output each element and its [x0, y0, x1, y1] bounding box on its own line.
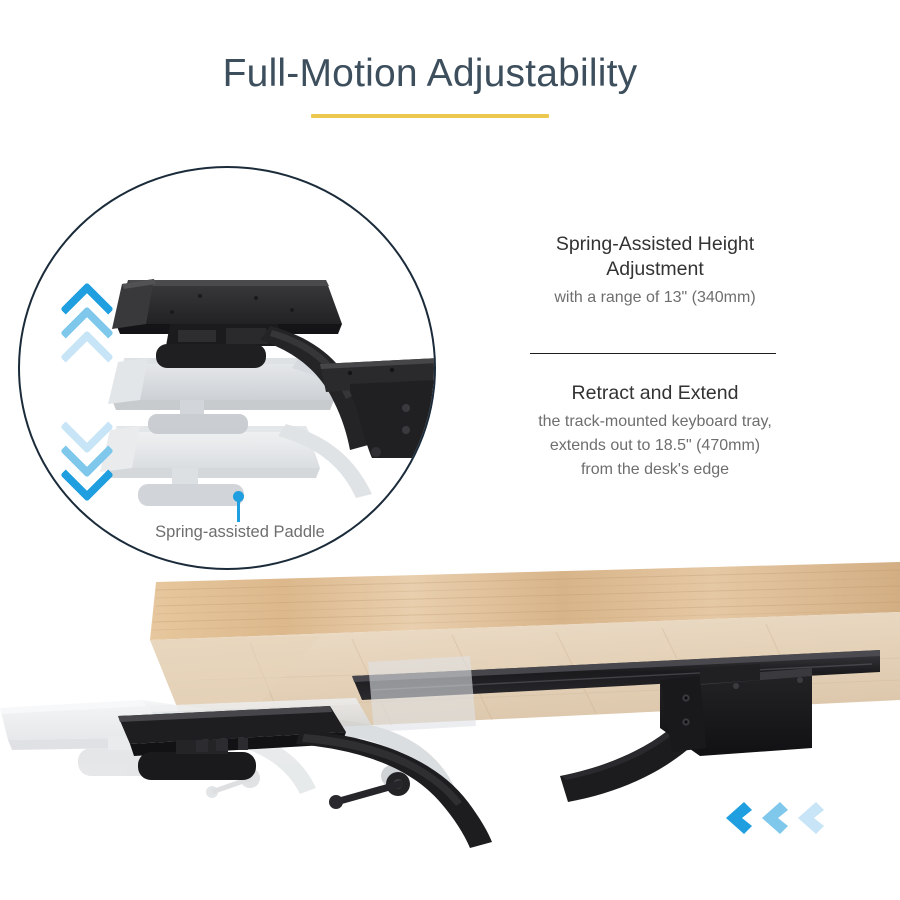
- callout-leader-line: [237, 500, 240, 522]
- feature-block-spring-assist: Spring-Assisted Height Adjustment with a…: [505, 232, 805, 310]
- feature-subtext: with a range of 13" (340mm): [505, 286, 805, 310]
- desk-scene: [0, 540, 900, 900]
- section-divider: [530, 353, 776, 354]
- chevron-down-group: [58, 404, 118, 490]
- feature-subtext-line3: from the desk's edge: [505, 458, 805, 482]
- chevron-left-group: [726, 802, 824, 834]
- feature-subtext-line1: with a range of 13" (340mm): [505, 286, 805, 310]
- feature-heading: Spring-Assisted Height Adjustment: [505, 232, 805, 282]
- title-accent-rule: [311, 114, 549, 118]
- chevron-up-group: [58, 286, 118, 372]
- detail-circle-inset: [18, 166, 436, 570]
- feature-heading-line2: Adjustment: [505, 257, 805, 282]
- feature-heading-line1: Retract and Extend: [505, 381, 805, 406]
- feature-subtext-line1: the track-mounted keyboard tray,: [505, 410, 805, 434]
- desk-and-tray-illustration: [0, 540, 900, 900]
- feature-block-retract-extend: Retract and Extend the track-mounted key…: [505, 381, 805, 482]
- chevron-left-icon: [726, 802, 752, 834]
- feature-heading-line1: Spring-Assisted Height: [505, 232, 805, 257]
- chevron-left-icon: [798, 802, 824, 834]
- page-title: Full-Motion Adjustability: [0, 52, 860, 96]
- product-feature-graphic: Full-Motion Adjustability Spring-Assiste…: [0, 0, 900, 900]
- chevron-left-icon: [762, 802, 788, 834]
- feature-heading: Retract and Extend: [505, 381, 805, 406]
- feature-subtext-line2: extends out to 18.5" (470mm): [505, 434, 805, 458]
- feature-subtext: the track-mounted keyboard tray, extends…: [505, 410, 805, 482]
